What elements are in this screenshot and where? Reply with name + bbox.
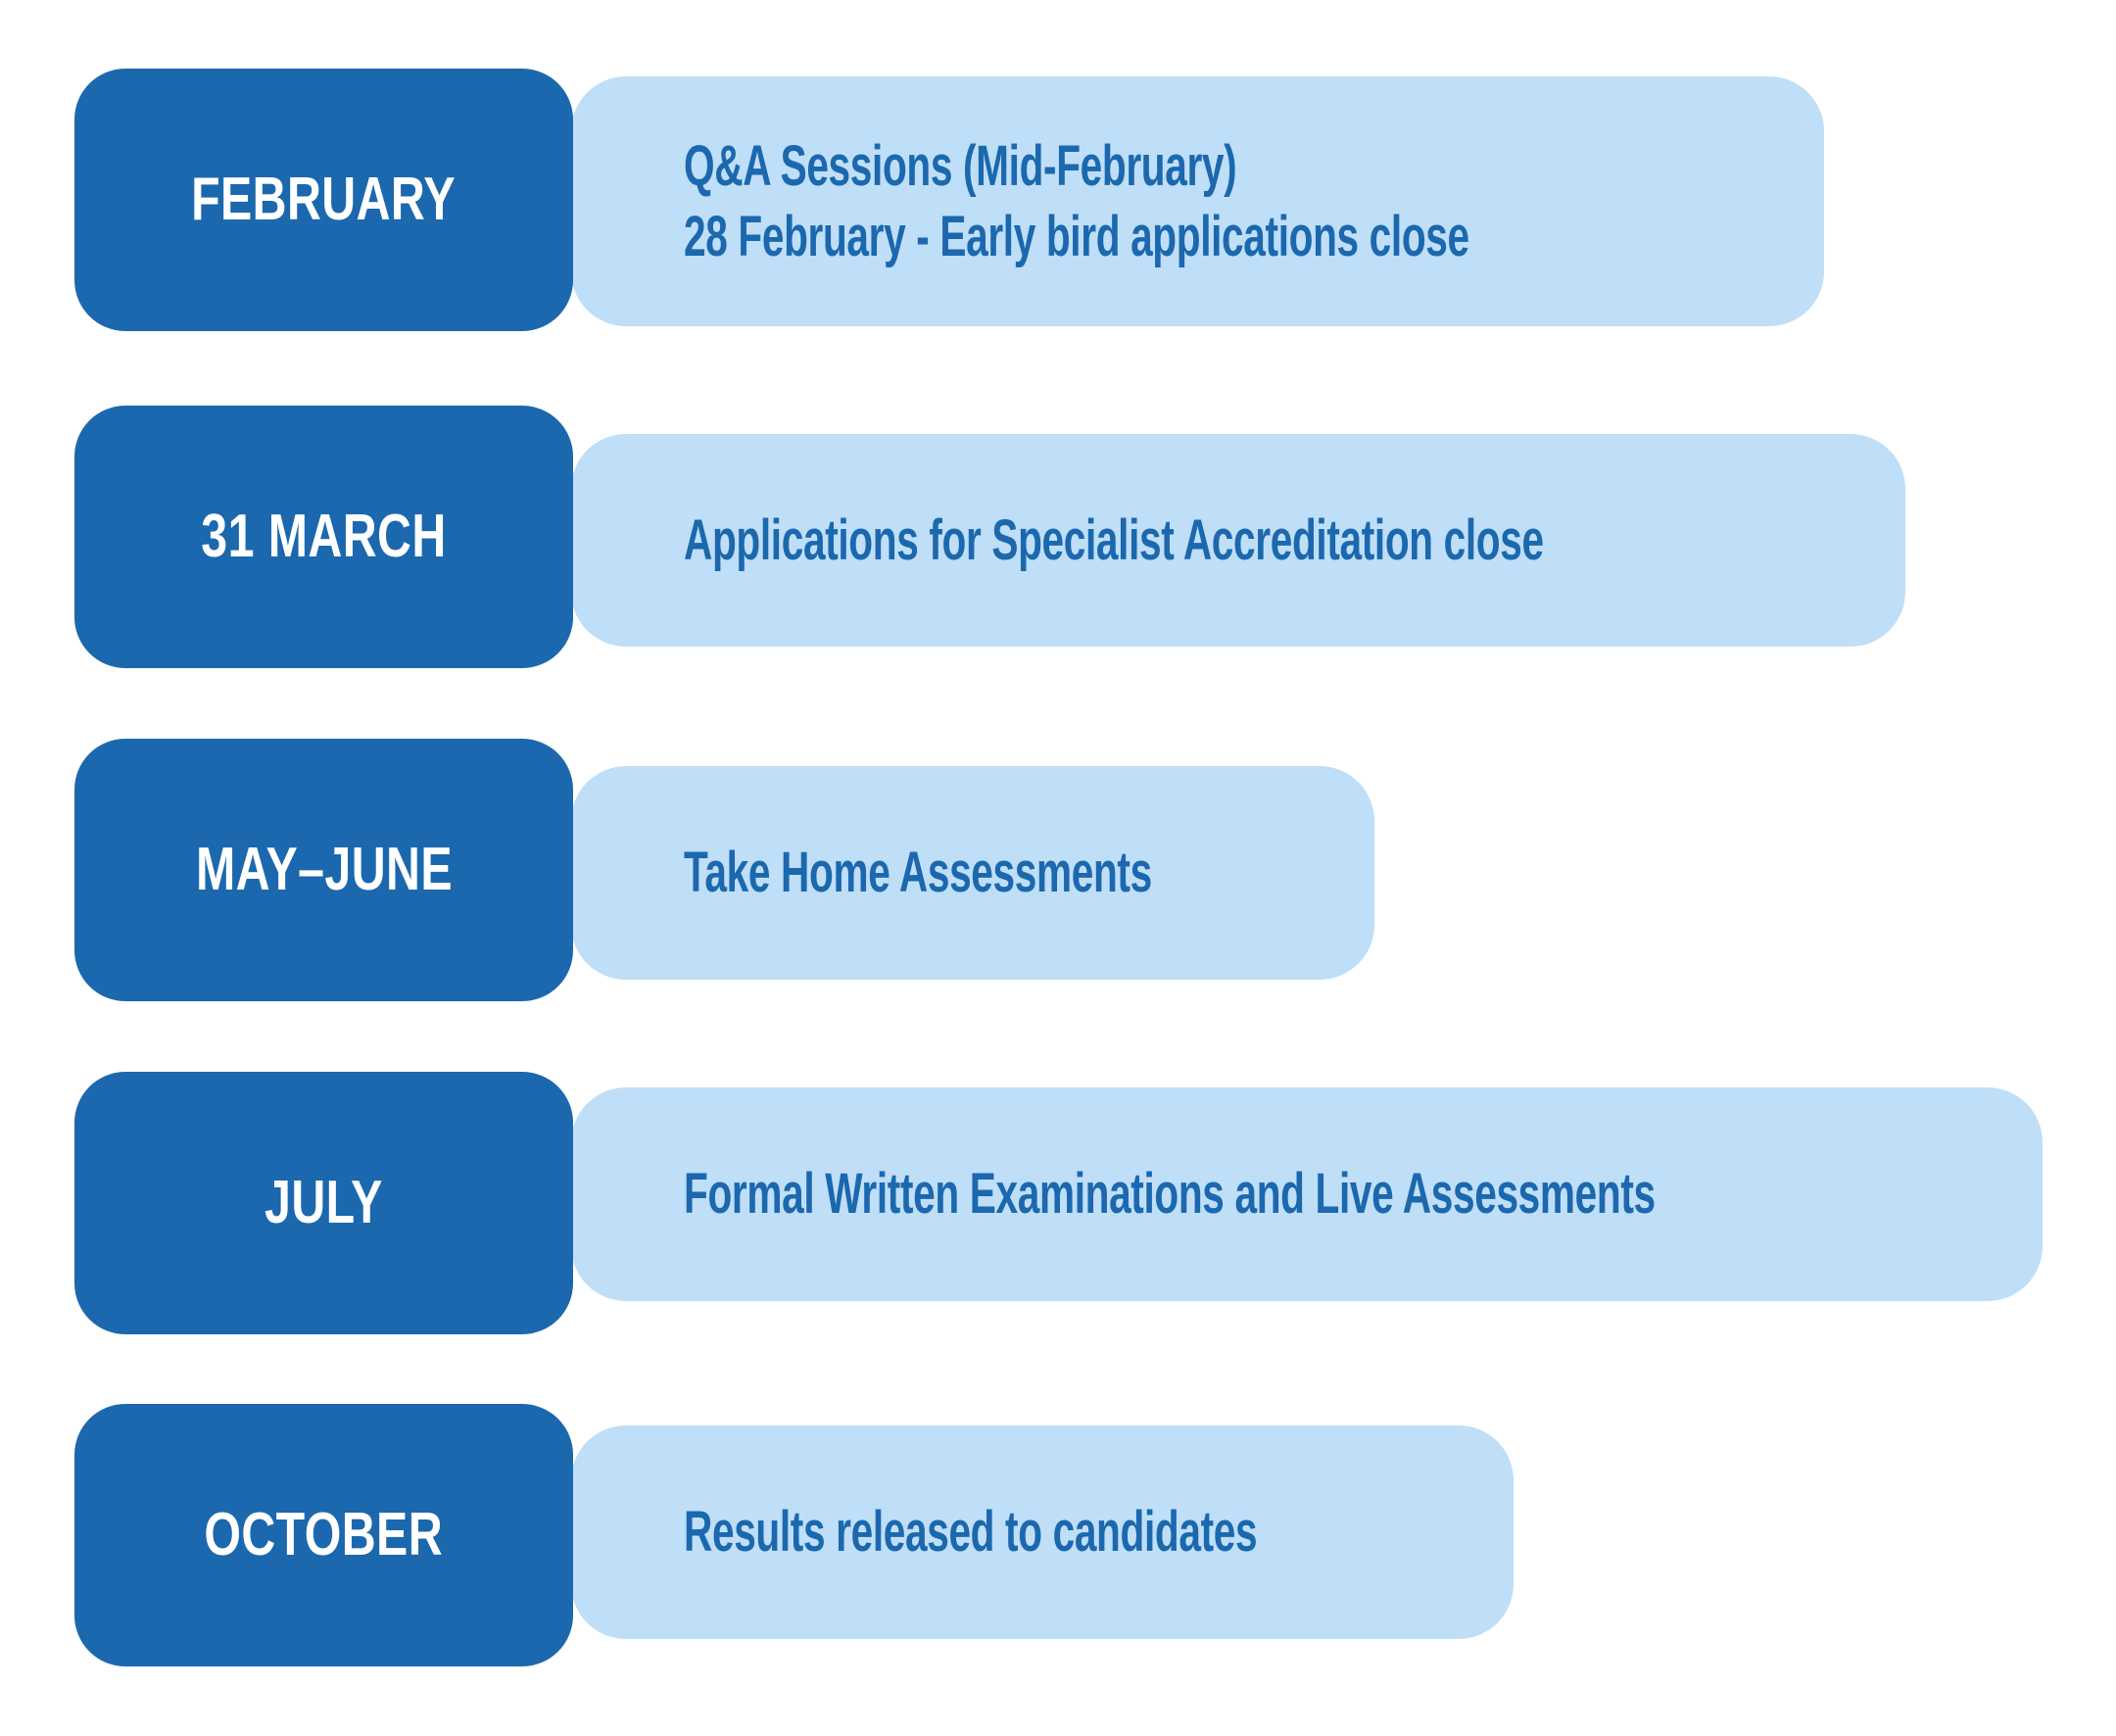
month-label: FEBRUARY [191, 169, 456, 230]
description-text: Results released to candidates [684, 1497, 1257, 1567]
month-pill: MAY–JUNE [74, 739, 573, 1001]
month-pill: OCTOBER [74, 1404, 573, 1666]
month-label: JULY [264, 1173, 383, 1233]
description-pill: Take Home Assessments [571, 766, 1374, 980]
description-text: Q&A Sessions (Mid-February) 28 February … [684, 131, 1469, 271]
month-label: 31 MARCH [201, 506, 446, 567]
description-pill: Formal Written Examinations and Live Ass… [571, 1087, 2043, 1301]
month-label: OCTOBER [205, 1505, 444, 1566]
description-pill: Q&A Sessions (Mid-February) 28 February … [571, 76, 1824, 326]
description-pill: Applications for Specialist Accreditatio… [571, 434, 1905, 647]
description-text: Applications for Specialist Accreditatio… [684, 506, 1544, 575]
month-label: MAY–JUNE [195, 840, 452, 900]
description-text: Take Home Assessments [684, 838, 1152, 907]
month-pill: JULY [74, 1072, 573, 1334]
description-pill: Results released to candidates [571, 1425, 1514, 1639]
description-text: Formal Written Examinations and Live Ass… [684, 1159, 1656, 1229]
timeline-graphic: Q&A Sessions (Mid-February) 28 February … [0, 0, 2116, 1736]
month-pill: 31 MARCH [74, 406, 573, 668]
month-pill: FEBRUARY [74, 69, 573, 331]
